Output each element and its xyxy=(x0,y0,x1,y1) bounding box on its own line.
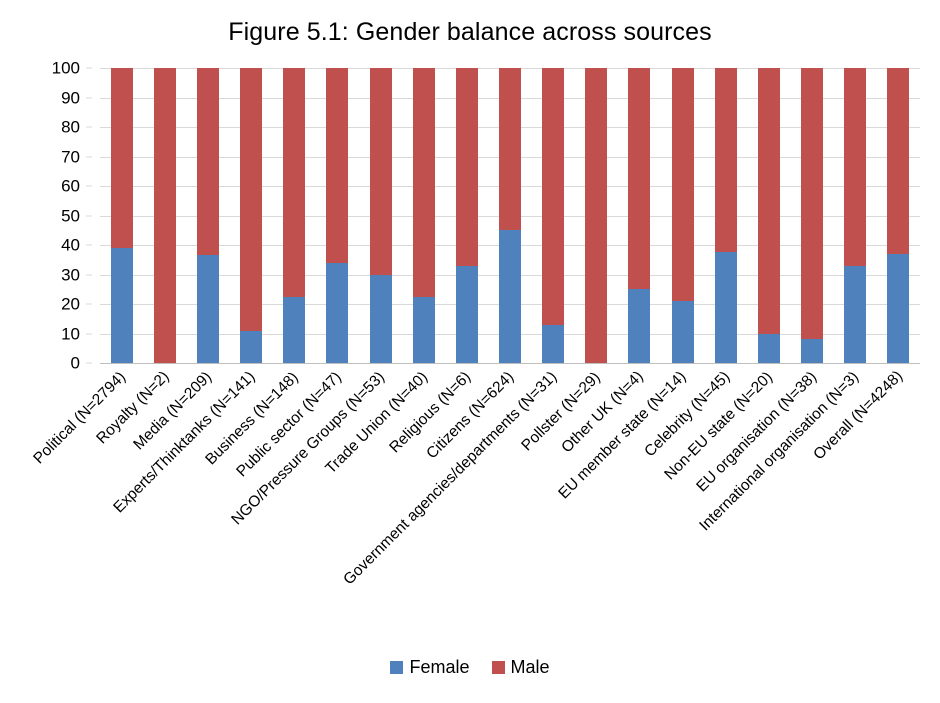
bar-segment-female[interactable] xyxy=(370,275,392,364)
bar-segment-male[interactable] xyxy=(283,68,305,297)
bar-segment-male[interactable] xyxy=(887,68,909,254)
bar-segment-male[interactable] xyxy=(456,68,478,266)
bar-segment-female[interactable] xyxy=(758,334,780,364)
bar-segment-male[interactable] xyxy=(801,68,823,339)
bar-column[interactable] xyxy=(154,68,176,363)
bar-column[interactable] xyxy=(887,68,909,363)
bar-column[interactable] xyxy=(283,68,305,363)
bar-segment-male[interactable] xyxy=(413,68,435,297)
legend-label: Male xyxy=(511,658,550,676)
x-axis-labels: Political (N=2794)Royalty (N=2)Media (N=… xyxy=(100,363,920,633)
y-tick-mark-100 xyxy=(86,68,92,69)
y-tick-label-40: 40 xyxy=(61,237,80,254)
bar-column[interactable] xyxy=(499,68,521,363)
bar-segment-male[interactable] xyxy=(715,68,737,252)
bar-column[interactable] xyxy=(111,68,133,363)
legend-label: Female xyxy=(409,658,469,676)
y-tick-label-20: 20 xyxy=(61,296,80,313)
bar-column[interactable] xyxy=(326,68,348,363)
bar-segment-female[interactable] xyxy=(456,266,478,363)
legend-item-female[interactable]: Female xyxy=(390,658,469,676)
y-tick-mark-30 xyxy=(86,274,92,275)
bar-segment-male[interactable] xyxy=(628,68,650,289)
legend-swatch-icon xyxy=(492,661,505,674)
y-tick-mark-20 xyxy=(86,304,92,305)
y-tick-label-70: 70 xyxy=(61,148,80,165)
legend-swatch-icon xyxy=(390,661,403,674)
bar-segment-female[interactable] xyxy=(283,297,305,363)
bar-column[interactable] xyxy=(801,68,823,363)
bar-column[interactable] xyxy=(197,68,219,363)
y-tick-label-90: 90 xyxy=(61,89,80,106)
bar-segment-male[interactable] xyxy=(326,68,348,263)
y-tick-mark-0 xyxy=(86,363,92,364)
bar-column[interactable] xyxy=(628,68,650,363)
y-tick-label-100: 100 xyxy=(52,60,80,77)
y-tick-mark-70 xyxy=(86,156,92,157)
bar-segment-male[interactable] xyxy=(154,68,176,363)
bar-segment-female[interactable] xyxy=(844,266,866,363)
chart-title: Figure 5.1: Gender balance across source… xyxy=(0,18,940,47)
bar-column[interactable] xyxy=(844,68,866,363)
bar-series-group xyxy=(100,68,920,363)
y-tick-mark-40 xyxy=(86,245,92,246)
bar-segment-female[interactable] xyxy=(628,289,650,363)
y-tick-label-0: 0 xyxy=(71,355,80,372)
bar-segment-female[interactable] xyxy=(413,297,435,363)
bar-column[interactable] xyxy=(758,68,780,363)
plot-area xyxy=(100,68,920,363)
y-tick-mark-90 xyxy=(86,97,92,98)
bar-segment-male[interactable] xyxy=(758,68,780,334)
y-tick-mark-80 xyxy=(86,127,92,128)
bar-segment-female[interactable] xyxy=(240,331,262,363)
x-axis-tick-label: International organisation (N=3) xyxy=(697,369,862,534)
bar-segment-male[interactable] xyxy=(240,68,262,331)
bar-column[interactable] xyxy=(585,68,607,363)
bar-segment-male[interactable] xyxy=(370,68,392,275)
y-tick-mark-10 xyxy=(86,333,92,334)
chart-legend: FemaleMale xyxy=(0,658,940,676)
bar-segment-female[interactable] xyxy=(326,263,348,363)
legend-item-male[interactable]: Male xyxy=(492,658,550,676)
bar-segment-male[interactable] xyxy=(542,68,564,325)
bar-segment-male[interactable] xyxy=(844,68,866,266)
bar-segment-male[interactable] xyxy=(672,68,694,301)
bar-segment-male[interactable] xyxy=(111,68,133,248)
bar-column[interactable] xyxy=(240,68,262,363)
bar-segment-female[interactable] xyxy=(887,254,909,363)
chart-figure: Figure 5.1: Gender balance across source… xyxy=(0,0,940,703)
y-tick-label-60: 60 xyxy=(61,178,80,195)
y-tick-label-50: 50 xyxy=(61,207,80,224)
y-tick-mark-60 xyxy=(86,186,92,187)
bar-segment-male[interactable] xyxy=(499,68,521,230)
bar-segment-female[interactable] xyxy=(197,255,219,363)
y-tick-label-30: 30 xyxy=(61,266,80,283)
bar-column[interactable] xyxy=(413,68,435,363)
y-tick-mark-50 xyxy=(86,215,92,216)
bar-column[interactable] xyxy=(370,68,392,363)
bar-segment-female[interactable] xyxy=(499,230,521,363)
bar-column[interactable] xyxy=(542,68,564,363)
bar-segment-male[interactable] xyxy=(585,68,607,363)
y-tick-label-10: 10 xyxy=(61,325,80,342)
bar-segment-male[interactable] xyxy=(197,68,219,255)
bar-segment-female[interactable] xyxy=(715,252,737,363)
bar-column[interactable] xyxy=(456,68,478,363)
bar-segment-female[interactable] xyxy=(672,301,694,363)
bar-column[interactable] xyxy=(672,68,694,363)
bar-segment-female[interactable] xyxy=(111,248,133,363)
bar-segment-female[interactable] xyxy=(542,325,564,363)
bar-column[interactable] xyxy=(715,68,737,363)
y-axis: 1009080706050403020100 xyxy=(0,68,92,363)
y-tick-label-80: 80 xyxy=(61,119,80,136)
bar-segment-female[interactable] xyxy=(801,339,823,363)
